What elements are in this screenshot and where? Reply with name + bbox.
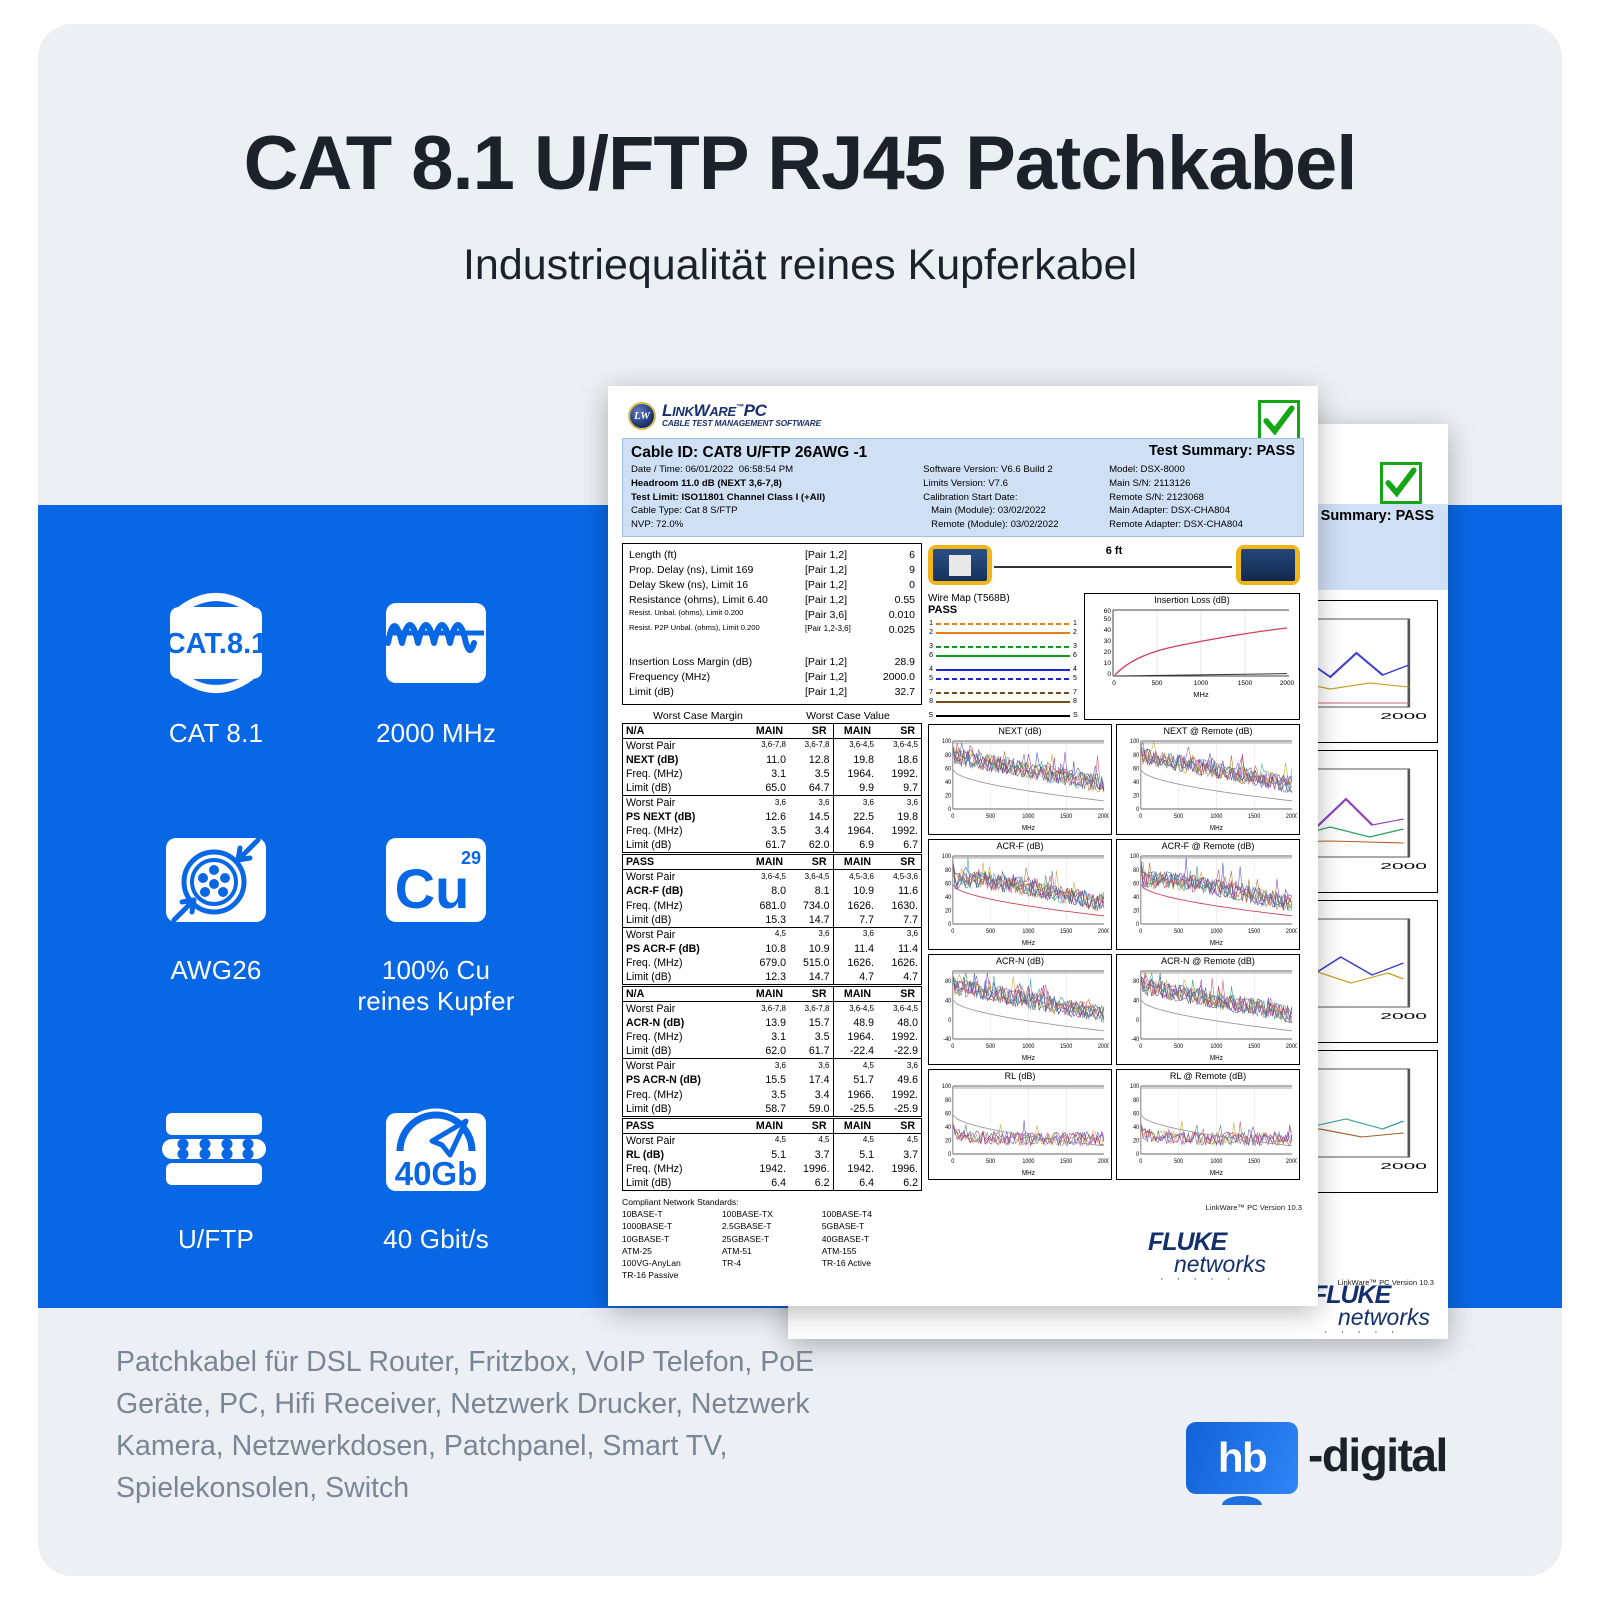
feature-cat81: CAT.8.1 CAT 8.1 bbox=[116, 584, 316, 749]
table-row: Worst Pair3,6-7,83,6-7,83,6-4,53,6-4,5 bbox=[623, 1002, 921, 1017]
wire-map-line: 44 bbox=[928, 665, 1080, 674]
svg-text:1500: 1500 bbox=[1060, 929, 1073, 935]
worst-case-margin-header: Worst Case Margin bbox=[622, 710, 774, 722]
remote-tester-icon bbox=[1236, 545, 1300, 585]
table-row: Limit (dB)62.061.7-22.4-22.9 bbox=[623, 1044, 921, 1059]
wire-map-title: Wire Map (T568B) bbox=[928, 593, 1080, 604]
svg-text:80: 80 bbox=[945, 868, 952, 874]
svg-text:0: 0 bbox=[1136, 807, 1140, 813]
chart-xlabel: MHz bbox=[1210, 1170, 1223, 1178]
table-row: Limit (dB)15.314.77.77.7 bbox=[623, 913, 921, 928]
svg-text:0: 0 bbox=[1139, 1044, 1143, 1050]
svg-text:40: 40 bbox=[945, 998, 952, 1004]
summary-col-3: Model: DSX-8000 Main S/N: 2113126 Remote… bbox=[1109, 463, 1295, 531]
svg-text:0: 0 bbox=[1136, 1152, 1140, 1158]
chart-xlabel: MHz bbox=[1022, 940, 1035, 948]
svg-text:0: 0 bbox=[1136, 922, 1140, 928]
svg-text:1000: 1000 bbox=[1194, 680, 1209, 687]
svg-text:100: 100 bbox=[942, 854, 952, 860]
svg-text:0: 0 bbox=[1139, 814, 1143, 820]
table-row: Freq. (MHz)1942.1996.1942.1996. bbox=[623, 1162, 921, 1176]
chart-xlabel: MHz bbox=[1022, 1170, 1035, 1178]
check-mark-icon bbox=[1380, 462, 1422, 504]
worst-case-tables: N/AMAINSRMAINSRWorst Pair3,6-7,83,6-7,83… bbox=[622, 723, 922, 1192]
svg-text:2000: 2000 bbox=[1286, 814, 1297, 820]
svg-text:80: 80 bbox=[945, 1097, 952, 1103]
table-row: RL (dB)5.13.75.13.7 bbox=[623, 1148, 921, 1162]
charts-column: 6 ft Wire Map (T568B) PASS 1122336644557… bbox=[928, 543, 1300, 1281]
logo-monitor-icon: hb bbox=[1186, 1422, 1298, 1494]
svg-text:500: 500 bbox=[1174, 1044, 1184, 1050]
chart-acr-n-db: ACR-N (dB)-40040800500100015002000MHz bbox=[928, 954, 1112, 1065]
table-row: Worst Pair3,6-7,83,6-7,83,6-4,53,6-4,5 bbox=[623, 738, 921, 753]
svg-text:0: 0 bbox=[948, 1018, 952, 1024]
table-row: Limit (dB)58.759.0-25.5-25.9 bbox=[623, 1102, 921, 1116]
table-row: Worst Pair3,63,64,53,6 bbox=[623, 1059, 921, 1074]
svg-text:100: 100 bbox=[1130, 1084, 1140, 1090]
table-row: Limit (dB)65.064.79.99.7 bbox=[623, 781, 921, 796]
table-row: Worst Pair3,6-4,53,6-4,54,5-3,64,5-3,6 bbox=[623, 870, 921, 885]
standards-row: 10GBASE-T25GBASE-T40GBASE-T bbox=[622, 1233, 922, 1245]
chart-title: NEXT @ Remote (dB) bbox=[1119, 727, 1297, 737]
feature-label: 100% Cureines Kupfer bbox=[336, 955, 536, 1017]
chart-grid: NEXT (dB)0204060801000500100015002000MHz… bbox=[928, 724, 1300, 1180]
table-row: Freq. (MHz)3.53.41964.1992. bbox=[623, 824, 921, 838]
application-list: Patchkabel für DSL Router, Fritzbox, VoI… bbox=[116, 1342, 876, 1510]
svg-text:80: 80 bbox=[1133, 979, 1140, 985]
table-row: Limit (dB)12.314.74.74.7 bbox=[623, 970, 921, 984]
svg-text:100: 100 bbox=[1130, 854, 1140, 860]
copper-element-icon: Cu 29 bbox=[336, 821, 536, 939]
linkware-badge-icon: LW bbox=[628, 402, 656, 430]
table-row: PS ACR-N (dB)15.517.451.749.6 bbox=[623, 1073, 921, 1087]
svg-text:60: 60 bbox=[1104, 608, 1112, 615]
svg-text:2000: 2000 bbox=[1286, 1044, 1297, 1050]
svg-text:0: 0 bbox=[951, 1044, 955, 1050]
chart-title: ACR-N @ Remote (dB) bbox=[1119, 957, 1297, 967]
table-row: NEXT (dB)11.012.819.818.6 bbox=[623, 753, 921, 767]
logo-stand-icon bbox=[1222, 1496, 1262, 1505]
table-row: Limit (dB)61.762.06.96.7 bbox=[623, 838, 921, 852]
compliant-standards: Compliant Network Standards: 10BASE-T100… bbox=[622, 1196, 922, 1281]
svg-text:80: 80 bbox=[1133, 753, 1140, 759]
cat81-badge-icon: CAT.8.1 bbox=[116, 584, 316, 702]
svg-text:40: 40 bbox=[1133, 780, 1140, 786]
measurement-group: N/AMAINSRMAINSRWorst Pair3,6-7,83,6-7,83… bbox=[622, 986, 922, 1117]
feature-frequency: 2000 MHz bbox=[336, 584, 536, 749]
feature-uftp: U/FTP bbox=[116, 1090, 316, 1255]
cable-cross-section-icon bbox=[116, 821, 316, 939]
svg-text:50: 50 bbox=[1104, 616, 1112, 623]
chart-title: ACR-N (dB) bbox=[931, 957, 1109, 967]
link-cable-line bbox=[994, 566, 1232, 568]
speed-gauge-icon: 40Gb bbox=[336, 1090, 536, 1208]
chart-acr-f-remote-db: ACR-F @ Remote (dB)020406080100050010001… bbox=[1116, 839, 1300, 950]
measurements-column: Length (ft)[Pair 1,2]6 Prop. Delay (ns),… bbox=[622, 543, 922, 1281]
svg-text:1500: 1500 bbox=[1060, 1159, 1073, 1165]
table-row: ACR-F (dB)8.08.110.911.6 bbox=[623, 884, 921, 898]
wire-map: Wire Map (T568B) PASS 1122336644557788SS bbox=[928, 593, 1080, 720]
svg-text:1000: 1000 bbox=[1210, 1044, 1223, 1050]
svg-text:500: 500 bbox=[1174, 929, 1184, 935]
chart-xlabel: MHz bbox=[1210, 825, 1223, 833]
chart-insertion-loss: Insertion Loss (dB) bbox=[1084, 593, 1300, 720]
svg-text:60: 60 bbox=[945, 881, 952, 887]
svg-text:20: 20 bbox=[1133, 794, 1140, 800]
svg-text:1000: 1000 bbox=[1022, 1044, 1035, 1050]
chart-next-db: NEXT (dB)0204060801000500100015002000MHz bbox=[928, 724, 1112, 835]
measurement-group: PASSMAINSRMAINSRWorst Pair4,54,54,54,5RL… bbox=[622, 1118, 922, 1191]
svg-text:10: 10 bbox=[1104, 660, 1112, 667]
chart-title: Insertion Loss (dB) bbox=[1087, 596, 1297, 606]
svg-text:500: 500 bbox=[1152, 680, 1163, 687]
test-summary: Test Summary: PASS bbox=[1149, 443, 1295, 459]
svg-text:0: 0 bbox=[948, 922, 952, 928]
feature-grid: CAT.8.1 CAT 8.1 2000 MHz bbox=[116, 584, 536, 1255]
svg-text:CAT.8.1: CAT.8.1 bbox=[165, 628, 268, 660]
svg-text:1000: 1000 bbox=[1022, 814, 1035, 820]
worst-case-headers: Worst Case Margin Worst Case Value bbox=[622, 710, 922, 722]
svg-text:1000: 1000 bbox=[1210, 1159, 1223, 1165]
svg-text:0: 0 bbox=[951, 814, 955, 820]
chart-title: ACR-F (dB) bbox=[931, 842, 1109, 852]
wire-map-line: 55 bbox=[928, 674, 1080, 683]
svg-text:1500: 1500 bbox=[1238, 680, 1253, 687]
feature-label: 40 Gbit/s bbox=[336, 1224, 536, 1255]
standards-row: ATM-25ATM-51ATM-155 bbox=[622, 1245, 922, 1257]
svg-text:20: 20 bbox=[945, 794, 952, 800]
svg-text:100: 100 bbox=[942, 739, 952, 745]
svg-text:0: 0 bbox=[1139, 929, 1143, 935]
chart-xlabel: MHz bbox=[1193, 690, 1209, 699]
svg-text:40: 40 bbox=[945, 895, 952, 901]
wire-map-line: 88 bbox=[928, 697, 1080, 706]
svg-text:500: 500 bbox=[1174, 1159, 1184, 1165]
svg-text:1500: 1500 bbox=[1248, 929, 1261, 935]
table-row: Freq. (MHz)3.53.41966.1992. bbox=[623, 1088, 921, 1102]
svg-text:20: 20 bbox=[1133, 1138, 1140, 1144]
table-row: Freq. (MHz)681.0734.01626.1630. bbox=[623, 899, 921, 913]
linkware-logo: LW LINKWARE™PC CABLE TEST MANAGEMENT SOF… bbox=[622, 398, 1304, 436]
svg-text:500: 500 bbox=[986, 929, 996, 935]
standards-row: TR-16 Passive bbox=[622, 1269, 922, 1281]
svg-text:1000: 1000 bbox=[1210, 929, 1223, 935]
measurement-group: PASSMAINSRMAINSRWorst Pair3,6-4,53,6-4,5… bbox=[622, 854, 922, 985]
table-row: PS NEXT (dB)12.614.522.519.8 bbox=[623, 810, 921, 824]
svg-text:2000: 2000 bbox=[1380, 1162, 1427, 1171]
svg-text:0: 0 bbox=[1107, 671, 1111, 678]
feature-label: 2000 MHz bbox=[336, 718, 536, 749]
svg-text:0: 0 bbox=[1136, 1018, 1140, 1024]
brand-logo: hb -digital bbox=[1186, 1416, 1506, 1521]
product-info-card: CAT 8.1 U/FTP RJ45 Patchkabel Industrieq… bbox=[38, 24, 1562, 1576]
chart-xlabel: MHz bbox=[1210, 1055, 1223, 1063]
feature-copper: Cu 29 100% Cureines Kupfer bbox=[336, 821, 536, 1017]
svg-text:2000: 2000 bbox=[1098, 1044, 1109, 1050]
chart-acr-n-remote-db: ACR-N @ Remote (dB)-40040800500100015002… bbox=[1116, 954, 1300, 1065]
svg-text:2000: 2000 bbox=[1286, 1159, 1297, 1165]
fluke-networks-logo: FLUKE networks · · · · · bbox=[1148, 1231, 1266, 1282]
measurement-group: N/AMAINSRMAINSRWorst Pair3,6-7,83,6-7,83… bbox=[622, 723, 922, 854]
svg-text:1000: 1000 bbox=[1210, 814, 1223, 820]
svg-text:0: 0 bbox=[948, 1152, 952, 1158]
svg-text:60: 60 bbox=[1133, 1111, 1140, 1117]
svg-text:60: 60 bbox=[945, 766, 952, 772]
svg-text:2000: 2000 bbox=[1098, 814, 1109, 820]
svg-text:40: 40 bbox=[945, 780, 952, 786]
svg-text:2000: 2000 bbox=[1380, 1012, 1427, 1021]
svg-text:80: 80 bbox=[945, 979, 952, 985]
svg-text:1000: 1000 bbox=[1022, 929, 1035, 935]
svg-text:1000: 1000 bbox=[1022, 1159, 1035, 1165]
standards-row: 1000BASE-T2.5GBASE-T5GBASE-T bbox=[622, 1220, 922, 1232]
svg-text:80: 80 bbox=[1133, 868, 1140, 874]
chart-title: NEXT (dB) bbox=[931, 727, 1109, 737]
table-row: Freq. (MHz)3.13.51964.1992. bbox=[623, 767, 921, 781]
wire-map-line: 22 bbox=[928, 628, 1080, 637]
standards-row: 10BASE-T100BASE-TX100BASE-T4 bbox=[622, 1208, 922, 1220]
svg-text:2000: 2000 bbox=[1098, 929, 1109, 935]
svg-text:1500: 1500 bbox=[1060, 814, 1073, 820]
summary-col-1: Date / Time: 06/01/2022 06:58:54 PM Head… bbox=[631, 463, 923, 531]
svg-text:2000: 2000 bbox=[1380, 862, 1427, 871]
uftp-cable-icon bbox=[116, 1090, 316, 1208]
wire-map-line: SS bbox=[928, 711, 1080, 720]
table-row: Freq. (MHz)679.0515.01626.1626. bbox=[623, 956, 921, 970]
svg-text:2000: 2000 bbox=[1380, 712, 1427, 721]
chart-xlabel: MHz bbox=[1022, 1055, 1035, 1063]
chart-title: RL @ Remote (dB) bbox=[1119, 1072, 1297, 1082]
svg-text:20: 20 bbox=[945, 1138, 952, 1144]
svg-text:100: 100 bbox=[1130, 739, 1140, 745]
feature-label: U/FTP bbox=[116, 1224, 316, 1255]
version-note: LinkWare™ PC Version 10.3 bbox=[1206, 1203, 1302, 1212]
svg-text:29: 29 bbox=[461, 848, 481, 868]
svg-text:500: 500 bbox=[1174, 814, 1184, 820]
summary-col-2: Software Version: V6.6 Build 2 Limits Ve… bbox=[923, 463, 1109, 531]
svg-text:40: 40 bbox=[1133, 998, 1140, 1004]
standards-title: Compliant Network Standards: bbox=[622, 1196, 922, 1208]
wire-map-line: 77 bbox=[928, 688, 1080, 697]
svg-text:80: 80 bbox=[945, 753, 952, 759]
chart-title: RL (dB) bbox=[931, 1072, 1109, 1082]
waveform-icon bbox=[336, 584, 536, 702]
page-subtitle: Industriequalität reines Kupferkabel bbox=[38, 241, 1562, 290]
check-mark-icon bbox=[1258, 400, 1300, 442]
svg-text:500: 500 bbox=[986, 1159, 996, 1165]
svg-text:40Gb: 40Gb bbox=[395, 1155, 478, 1192]
wire-map-status: PASS bbox=[928, 604, 1080, 616]
report-summary-band: Cable ID: CAT8 U/FTP 26AWG -1 Test Summa… bbox=[622, 438, 1304, 537]
wire-map-line: 33 bbox=[928, 642, 1080, 651]
svg-text:0: 0 bbox=[951, 1159, 955, 1165]
svg-text:2000: 2000 bbox=[1098, 1159, 1109, 1165]
table-row: Limit (dB)6.46.26.46.2 bbox=[623, 1176, 921, 1190]
svg-text:1500: 1500 bbox=[1248, 1044, 1261, 1050]
chart-xlabel: MHz bbox=[1210, 940, 1223, 948]
fluke-networks-logo: FLUKE networks · · · · · bbox=[1312, 1284, 1430, 1335]
worst-case-value-header: Worst Case Value bbox=[774, 710, 922, 722]
svg-text:60: 60 bbox=[1133, 766, 1140, 772]
svg-text:40: 40 bbox=[1104, 627, 1112, 634]
svg-text:20: 20 bbox=[945, 908, 952, 914]
chart-acr-f-db: ACR-F (dB)0204060801000500100015002000MH… bbox=[928, 839, 1112, 950]
link-diagram: 6 ft bbox=[928, 543, 1300, 589]
table-row: ACR-N (dB)13.915.748.948.0 bbox=[623, 1016, 921, 1030]
feature-label: AWG26 bbox=[116, 955, 316, 986]
chart-title: ACR-F @ Remote (dB) bbox=[1119, 842, 1297, 852]
table-row: Worst Pair4,53,63,63,6 bbox=[623, 927, 921, 942]
wire-map-line: 66 bbox=[928, 651, 1080, 660]
feature-label: CAT 8.1 bbox=[116, 718, 316, 749]
test-report-front: LW LINKWARE™PC CABLE TEST MANAGEMENT SOF… bbox=[608, 386, 1318, 1306]
svg-text:40: 40 bbox=[945, 1125, 952, 1131]
svg-text:20: 20 bbox=[1104, 649, 1112, 656]
svg-text:500: 500 bbox=[986, 814, 996, 820]
svg-text:500: 500 bbox=[986, 1044, 996, 1050]
header: CAT 8.1 U/FTP RJ45 Patchkabel Industrieq… bbox=[38, 24, 1562, 290]
linkware-name: LINKWARE™PC bbox=[662, 402, 821, 419]
svg-text:2000: 2000 bbox=[1286, 929, 1297, 935]
standards-row: 100VG-AnyLanTR-4TR-16 Active bbox=[622, 1257, 922, 1269]
svg-text:0: 0 bbox=[951, 929, 955, 935]
linkware-tagline: CABLE TEST MANAGEMENT SOFTWARE bbox=[662, 419, 821, 430]
basic-measurements-table: Length (ft)[Pair 1,2]6 Prop. Delay (ns),… bbox=[622, 543, 922, 704]
table-row: Freq. (MHz)3.13.51964.1992. bbox=[623, 1030, 921, 1044]
svg-text:60: 60 bbox=[945, 1111, 952, 1117]
svg-text:0: 0 bbox=[948, 807, 952, 813]
logo-wordmark: -digital bbox=[1308, 1428, 1447, 1482]
page-title: CAT 8.1 U/FTP RJ45 Patchkabel bbox=[38, 120, 1562, 207]
feature-speed: 40Gb 40 Gbit/s bbox=[336, 1090, 536, 1255]
svg-text:0: 0 bbox=[1139, 1159, 1143, 1165]
svg-text:1500: 1500 bbox=[1060, 1044, 1073, 1050]
svg-text:1500: 1500 bbox=[1248, 1159, 1261, 1165]
svg-text:1500: 1500 bbox=[1248, 814, 1261, 820]
table-row: PS ACR-F (dB)10.810.911.411.4 bbox=[623, 942, 921, 956]
svg-text:-40: -40 bbox=[943, 1037, 951, 1043]
svg-text:30: 30 bbox=[1104, 638, 1112, 645]
chart-xlabel: MHz bbox=[1022, 825, 1035, 833]
svg-text:40: 40 bbox=[1133, 895, 1140, 901]
svg-text:-40: -40 bbox=[1131, 1037, 1139, 1043]
svg-text:2000: 2000 bbox=[1280, 680, 1295, 687]
svg-text:Cu: Cu bbox=[395, 857, 470, 920]
svg-text:60: 60 bbox=[1133, 881, 1140, 887]
feature-awg26: AWG26 bbox=[116, 821, 316, 1017]
svg-text:0: 0 bbox=[1112, 680, 1116, 687]
svg-text:40: 40 bbox=[1133, 1125, 1140, 1131]
chart-rl-remote-db: RL @ Remote (dB)020406080100050010001500… bbox=[1116, 1069, 1300, 1180]
svg-text:100: 100 bbox=[942, 1084, 952, 1090]
table-row: Worst Pair4,54,54,54,5 bbox=[623, 1133, 921, 1148]
wire-map-line: 11 bbox=[928, 619, 1080, 628]
svg-text:80: 80 bbox=[1133, 1097, 1140, 1103]
table-row: Worst Pair3,63,63,63,6 bbox=[623, 795, 921, 810]
svg-text:20: 20 bbox=[1133, 908, 1140, 914]
chart-rl-db: RL (dB)0204060801000500100015002000MHz bbox=[928, 1069, 1112, 1180]
chart-next-remote-db: NEXT @ Remote (dB)0204060801000500100015… bbox=[1116, 724, 1300, 835]
